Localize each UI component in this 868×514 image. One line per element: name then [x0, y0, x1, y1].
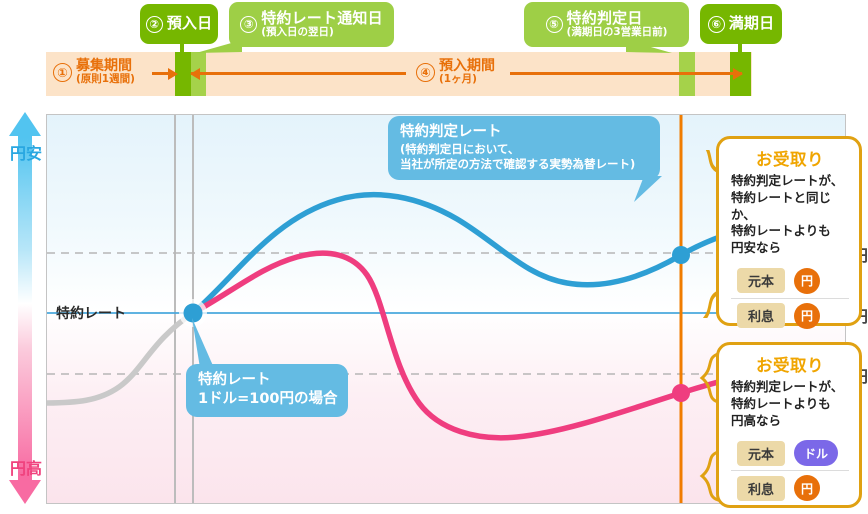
arrow-line-deposit-period-left [191, 72, 406, 75]
receipt-rows-yen-strong: 元本 ドル 利息 円 [731, 436, 849, 505]
tab-number-6: ⑥ [708, 16, 725, 33]
receipt-condition-strong-line-1: 特約判定レートが、 [731, 379, 849, 396]
receipt-title-yen-weak: お受取り [731, 146, 849, 170]
callout-judgment-rate-line1: 特約判定レート [400, 123, 648, 142]
timeline-tab-maturity-date[interactable]: ⑥ 満期日 [700, 4, 782, 44]
tab-number-3: ③ [240, 16, 257, 33]
tab-title-2: 預入日 [167, 16, 213, 32]
receipt-rows-yen-weak: 元本 円 利息 円 [731, 264, 849, 333]
period-label-offer: ① 募集期間 (原則1週間) [53, 59, 135, 85]
tab-title-5: 特約判定日 [567, 11, 668, 27]
period-title-1: 募集期間 [76, 59, 135, 74]
receipt-condition-line-2: 特約レートと同じか、 [731, 190, 849, 224]
callout-judgment-rate-tail [618, 176, 664, 204]
receipt-box-yen-weak: お受取り 特約判定レートが、 特約レートと同じか、 特約レートよりも 円安なら … [716, 136, 862, 326]
tab-sub-5: (満期日の3営業日前) [567, 27, 668, 38]
marker-judgment-rate-pink [672, 384, 690, 402]
callout-contract-rate-line1: 特約レート [198, 371, 336, 390]
receipt-condition-strong-line-2: 特約レートよりも [731, 396, 849, 413]
callout-contract-rate-line2: 1ドル=100円の場合 [198, 390, 336, 409]
tab-sub-3: (預入日の翌日) [261, 27, 383, 38]
receipt-tag-principal: 元本 [737, 268, 785, 293]
tab-number-2: ② [146, 16, 163, 33]
arrow-head-offer-period [168, 68, 178, 80]
callout-judgment-rate-line3: 当社が所定の方法で確認する実勢為替レート) [400, 157, 648, 172]
period-number-4: ④ [416, 63, 435, 82]
receipt-row-interest: 利息 円 [731, 298, 849, 333]
tab-number-5: ⑤ [546, 16, 563, 33]
period-title-4: 預入期間 [439, 59, 495, 74]
axis-gradient-bar [18, 138, 32, 476]
receipt-condition-yen-weak: 特約判定レートが、 特約レートと同じか、 特約レートよりも 円安なら [731, 173, 849, 257]
receipt-row-principal-dollar: 元本 ドル [731, 436, 849, 470]
period-number-1: ① [53, 63, 72, 82]
timeline-tab-judgment-date[interactable]: ⑤ 特約判定日 (満期日の3営業日前) [524, 2, 689, 47]
receipt-tag-principal-dollar: 元本 [737, 441, 785, 466]
period-label-deposit: ④ 預入期間 (1ヶ月) [416, 59, 495, 85]
receipt-box-yen-strong: お受取り 特約判定レートが、 特約レートよりも 円高なら 元本 ドル 利息 円 [716, 342, 862, 508]
receipt-tag-interest-yen: 利息 [737, 476, 785, 501]
receipt-condition-line-1: 特約判定レートが、 [731, 173, 849, 190]
callout-judgment-rate: 特約判定レート (特約判定日において、 当社が所定の方法で確認する実勢為替レート… [388, 116, 660, 180]
yen-direction-axis [8, 112, 42, 504]
arrow-head-deposit-period-right [733, 68, 743, 80]
tab-title-6: 満期日 [729, 16, 775, 32]
arrow-line-deposit-period-right [510, 72, 742, 75]
callout-contract-rate: 特約レート 1ドル=100円の場合 [186, 364, 348, 417]
series-past-gray [47, 313, 193, 403]
timeline-tab-deposit-date[interactable]: ② 預入日 [140, 4, 218, 44]
receipt-condition-yen-strong: 特約判定レートが、 特約レートよりも 円高なら [731, 379, 849, 429]
contract-rate-label: 特約レート [56, 303, 126, 323]
axis-label-yen-weak: 円安 [2, 140, 50, 164]
callout-judgment-rate-line2: (特約判定日において、 [400, 142, 648, 157]
period-sub-4: (1ヶ月) [439, 74, 495, 86]
receipt-badge-principal-dollar: ドル [794, 440, 838, 466]
receipt-condition-line-3: 特約レートよりも [731, 223, 849, 240]
tab-title-3: 特約レート通知日 [261, 11, 383, 27]
receipt-badge-interest-yen2: 円 [794, 475, 820, 501]
receipt-tag-interest: 利息 [737, 303, 785, 328]
receipt-row-interest-yen: 利息 円 [731, 470, 849, 505]
receipt-row-principal: 元本 円 [731, 264, 849, 298]
arrow-head-deposit-period-left [190, 68, 200, 80]
receipt-badge-interest-yen: 円 [794, 303, 820, 329]
period-sub-1: (原則1週間) [76, 74, 135, 86]
marker-judgment-rate-blue [672, 246, 690, 264]
receipt-badge-principal-yen: 円 [794, 268, 820, 294]
receipt-title-yen-strong: お受取り [731, 352, 849, 376]
diagram-canvas: 103円 100円 97円 特約レート 円安 円高 ① 募集期間 [0, 0, 868, 514]
callout-contract-rate-tail [190, 318, 220, 370]
receipt-condition-line-4: 円安なら [731, 240, 849, 257]
timeline-tab-notify-date[interactable]: ③ 特約レート通知日 (預入日の翌日) [229, 2, 394, 47]
receipt-condition-strong-line-3: 円高なら [731, 413, 849, 430]
axis-label-yen-strong: 円高 [2, 455, 50, 479]
